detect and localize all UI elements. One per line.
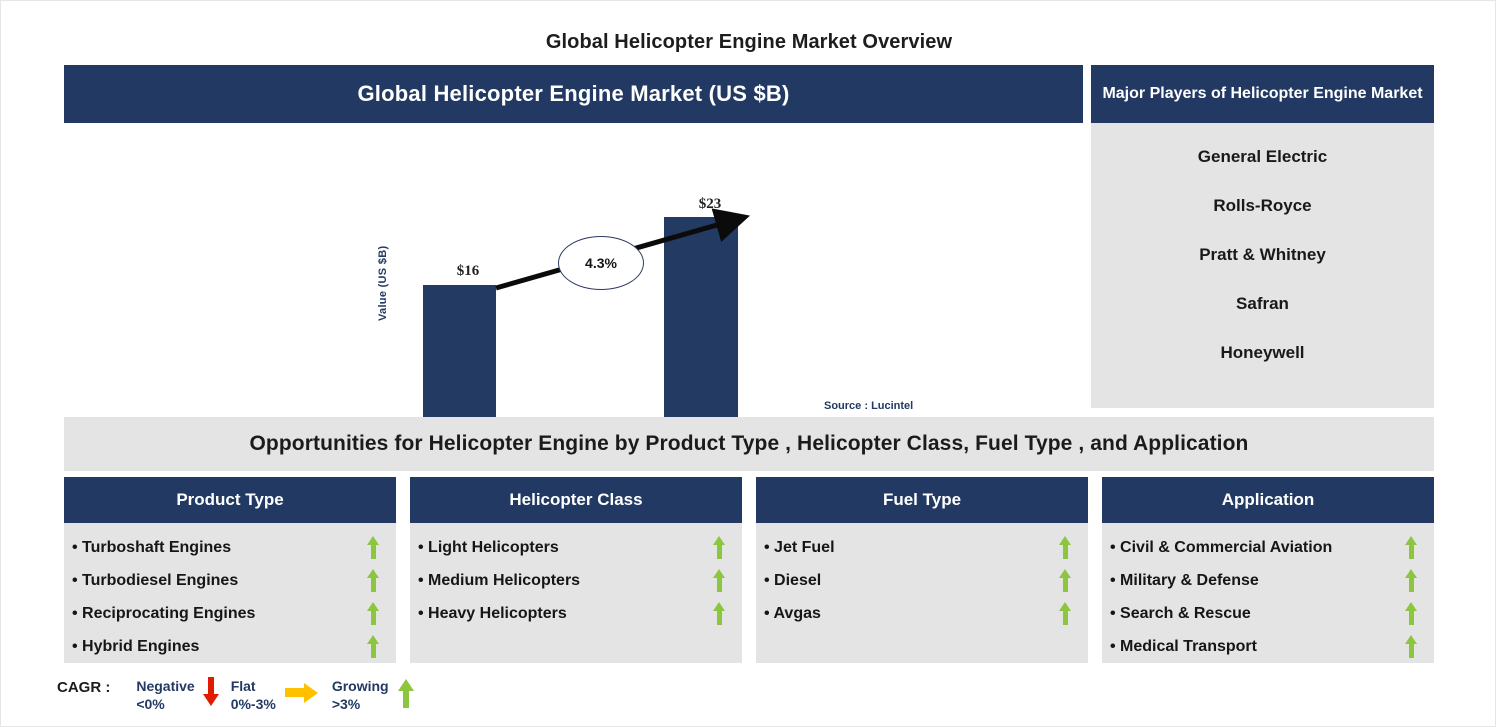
cagr-value: 4.3% [585,255,617,271]
arrow-up-icon [713,536,726,559]
list-item: • Diesel [764,564,1078,597]
list-item-label: • Jet Fuel [764,539,835,557]
segment-header-label: Fuel Type [883,490,961,510]
list-item-label: • Diesel [764,572,821,590]
list-item-label: • Military & Defense [1110,572,1259,590]
list-item-label: • Medium Helicopters [418,572,580,590]
arrow-right-icon [285,683,319,703]
list-item: • Medium Helicopters [418,564,732,597]
list-item: • Heavy Helicopters [418,597,732,630]
legend-flat-name: Flat [231,677,276,695]
cagr-bubble: 4.3% [558,236,644,290]
list-item-label: • Hybrid Engines [72,638,199,656]
list-item: Pratt & Whitney [1091,245,1434,265]
segment-column-application: Application • Civil & Commercial Aviatio… [1102,477,1434,663]
segment-header-product-type: Product Type [64,477,396,523]
opportunities-banner: Opportunities for Helicopter Engine by P… [64,417,1434,471]
segment-body-helicopter-class: • Light Helicopters • Medium Helicopters… [410,523,742,663]
list-item: • Search & Rescue [1110,597,1424,630]
arrow-up-icon [1059,602,1072,625]
legend-growing-name: Growing [332,677,389,695]
arrow-up-icon [367,635,380,658]
arrow-up-icon [367,569,380,592]
list-item: • Light Helicopters [418,531,732,564]
list-item-label: • Search & Rescue [1110,605,1251,623]
segment-body-fuel-type: • Jet Fuel • Diesel • Avgas [756,523,1088,663]
arrow-up-icon [713,569,726,592]
list-item-label: • Turbodiesel Engines [72,572,238,590]
arrow-up-icon [367,602,380,625]
list-item: • Avgas [764,597,1078,630]
segment-column-product-type: Product Type • Turboshaft Engines • Turb… [64,477,396,663]
list-item-label: • Light Helicopters [418,539,559,557]
segment-header-label: Product Type [176,490,283,510]
arrow-up-icon [397,677,415,709]
segment-header-label: Helicopter Class [509,490,642,510]
legend-negative-name: Negative [136,677,194,695]
list-item: General Electric [1091,147,1434,167]
legend-negative-text: Negative <0% [136,677,194,713]
legend-growing-text: Growing >3% [332,677,389,713]
list-item: • Hybrid Engines [72,630,386,663]
legend-item-flat: Flat 0%-3% [231,677,328,713]
market-chart-panel: Global Helicopter Engine Market (US $B) … [64,65,1083,408]
segment-header-fuel-type: Fuel Type [756,477,1088,523]
list-item: • Military & Defense [1110,564,1424,597]
list-item: Honeywell [1091,343,1434,363]
cagr-legend-title: CAGR : [57,677,110,696]
segment-column-fuel-type: Fuel Type • Jet Fuel • Diesel • Avgas [756,477,1088,663]
major-players-header: Major Players of Helicopter Engine Marke… [1091,65,1434,123]
legend-flat-text: Flat 0%-3% [231,677,276,713]
list-item: • Jet Fuel [764,531,1078,564]
market-chart-header-label: Global Helicopter Engine Market (US $B) [358,81,790,107]
list-item: • Turboshaft Engines [72,531,386,564]
arrow-up-icon [1405,635,1418,658]
market-chart-header: Global Helicopter Engine Market (US $B) [64,65,1083,123]
cagr-legend: CAGR : Negative <0% Flat 0%-3% Growing >… [57,677,427,721]
segment-header-helicopter-class: Helicopter Class [410,477,742,523]
source-note: Source : Lucintel [824,400,913,412]
legend-item-negative: Negative <0% [136,677,226,713]
major-players-list: General Electric Rolls-Royce Pratt & Whi… [1091,123,1434,408]
arrow-up-icon [367,536,380,559]
segment-body-product-type: • Turboshaft Engines • Turbodiesel Engin… [64,523,396,663]
page-title: Global Helicopter Engine Market Overview [1,31,1496,54]
list-item: • Turbodiesel Engines [72,564,386,597]
segment-header-label: Application [1222,490,1315,510]
legend-growing-range: >3% [332,695,389,713]
arrow-up-icon [1405,602,1418,625]
list-item-label: • Avgas [764,605,821,623]
list-item: • Medical Transport [1110,630,1424,663]
list-item: • Reciprocating Engines [72,597,386,630]
legend-flat-range: 0%-3% [231,695,276,713]
segment-body-application: • Civil & Commercial Aviation • Military… [1102,523,1434,663]
arrow-up-icon [713,602,726,625]
major-players-panel: Major Players of Helicopter Engine Marke… [1091,65,1434,408]
cagr-trend-arrow-icon [336,143,824,433]
list-item-label: • Medical Transport [1110,638,1257,656]
segment-columns: Product Type • Turboshaft Engines • Turb… [64,477,1434,663]
segment-column-helicopter-class: Helicopter Class • Light Helicopters • M… [410,477,742,663]
segment-header-application: Application [1102,477,1434,523]
legend-item-growing: Growing >3% [332,677,423,713]
arrow-down-icon [203,677,219,709]
list-item: Rolls-Royce [1091,196,1434,216]
list-item-label: • Turboshaft Engines [72,539,231,557]
list-item-label: • Reciprocating Engines [72,605,255,623]
major-players-header-label: Major Players of Helicopter Engine Marke… [1102,84,1422,104]
list-item-label: • Heavy Helicopters [418,605,567,623]
arrow-up-icon [1405,536,1418,559]
list-item: • Civil & Commercial Aviation [1110,531,1424,564]
arrow-up-icon [1405,569,1418,592]
legend-negative-range: <0% [136,695,194,713]
list-item-label: • Civil & Commercial Aviation [1110,539,1332,557]
opportunities-banner-label: Opportunities for Helicopter Engine by P… [250,432,1249,456]
bar-chart: Value (US $B) $16 $23 2026 2035 4.3% [64,123,1083,408]
arrow-up-icon [1059,569,1072,592]
infographic-page: Global Helicopter Engine Market Overview… [0,0,1496,727]
list-item: Safran [1091,294,1434,314]
arrow-up-icon [1059,536,1072,559]
